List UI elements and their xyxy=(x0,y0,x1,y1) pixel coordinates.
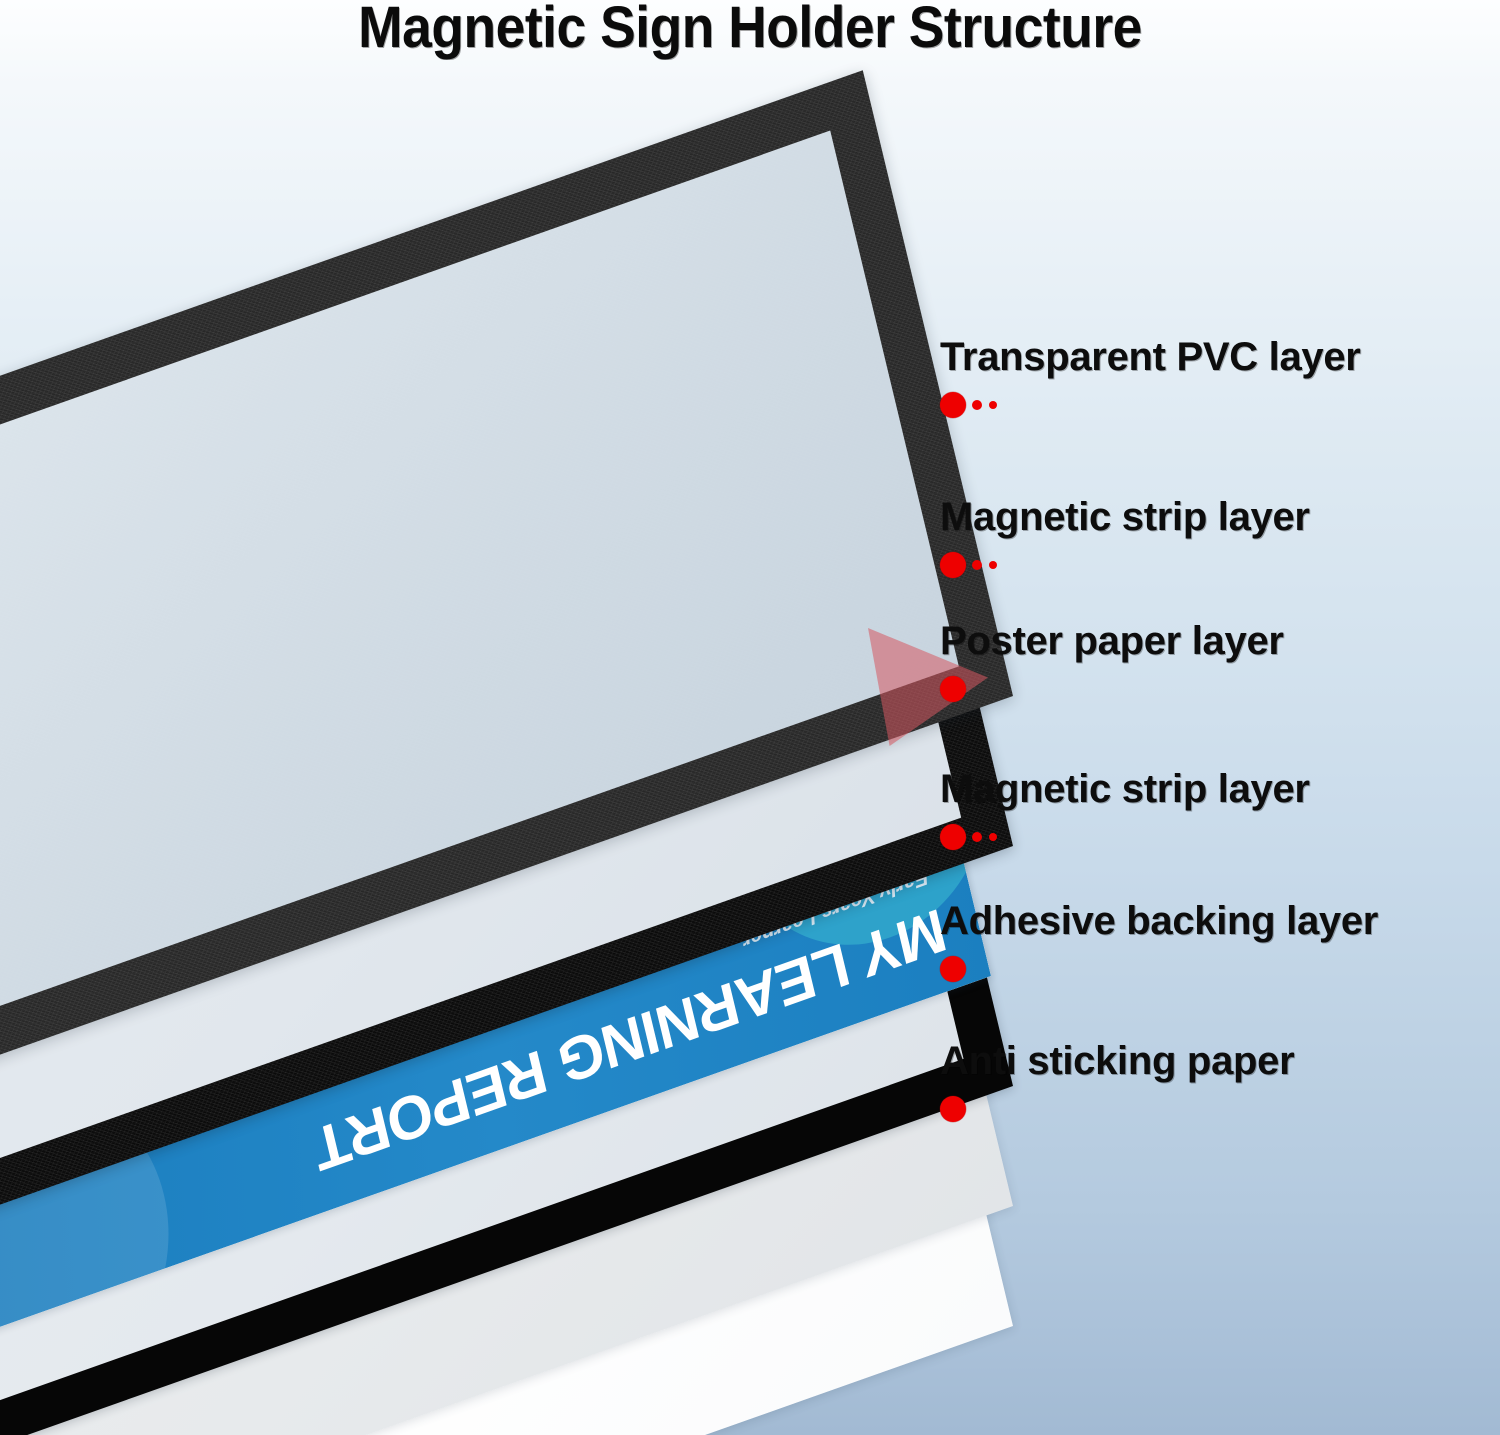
red-dot-marker-small xyxy=(972,560,982,570)
callout-label: Anti sticking paper xyxy=(940,1039,1294,1084)
callout-leader-line xyxy=(940,832,1005,842)
callout-anti-sticking-paper: Anti sticking paper xyxy=(940,1052,1500,1114)
red-dot-marker-small xyxy=(972,832,982,842)
red-dot-marker-small xyxy=(989,833,997,841)
exploded-layer-stack: MY LEARNING REPORT Early Years Learner S… xyxy=(0,0,1500,1435)
callout-label: Magnetic strip layer xyxy=(940,767,1310,812)
red-dot-marker-small xyxy=(989,401,997,409)
red-dot-marker xyxy=(940,956,966,982)
callout-magnetic-strip-layer-upper: Magnetic strip layer xyxy=(940,508,1500,570)
callout-poster-paper-layer: Poster paper layer xyxy=(940,632,1500,694)
callout-label: Poster paper layer xyxy=(940,619,1284,664)
callout-leader-line xyxy=(940,964,974,974)
callout-magnetic-strip-layer-lower: Magnetic strip layer xyxy=(940,780,1500,842)
callout-label: Magnetic strip layer xyxy=(940,495,1310,540)
red-dot-marker-small xyxy=(989,561,997,569)
red-dot-marker xyxy=(940,1096,966,1122)
red-dot-marker xyxy=(940,392,966,418)
diagram-canvas: Magnetic Sign Holder Structure MY xyxy=(0,0,1500,1435)
callout-leader-line xyxy=(940,400,1005,410)
pvc-pane xyxy=(0,131,959,1010)
callout-label: Transparent PVC layer xyxy=(940,335,1361,380)
callout-transparent-pvc-layer: Transparent PVC layer xyxy=(940,348,1500,410)
red-dot-marker xyxy=(940,824,966,850)
layer-transparent-pvc xyxy=(0,250,970,890)
callout-leader-line xyxy=(940,684,974,694)
red-dot-marker xyxy=(940,552,966,578)
callout-adhesive-backing-layer: Adhesive backing layer xyxy=(940,912,1500,974)
callout-label: Adhesive backing layer xyxy=(940,899,1378,944)
red-dot-marker-small xyxy=(972,400,982,410)
callout-leader-line xyxy=(940,1104,974,1114)
red-dot-marker xyxy=(940,676,966,702)
callout-leader-line xyxy=(940,560,1005,570)
